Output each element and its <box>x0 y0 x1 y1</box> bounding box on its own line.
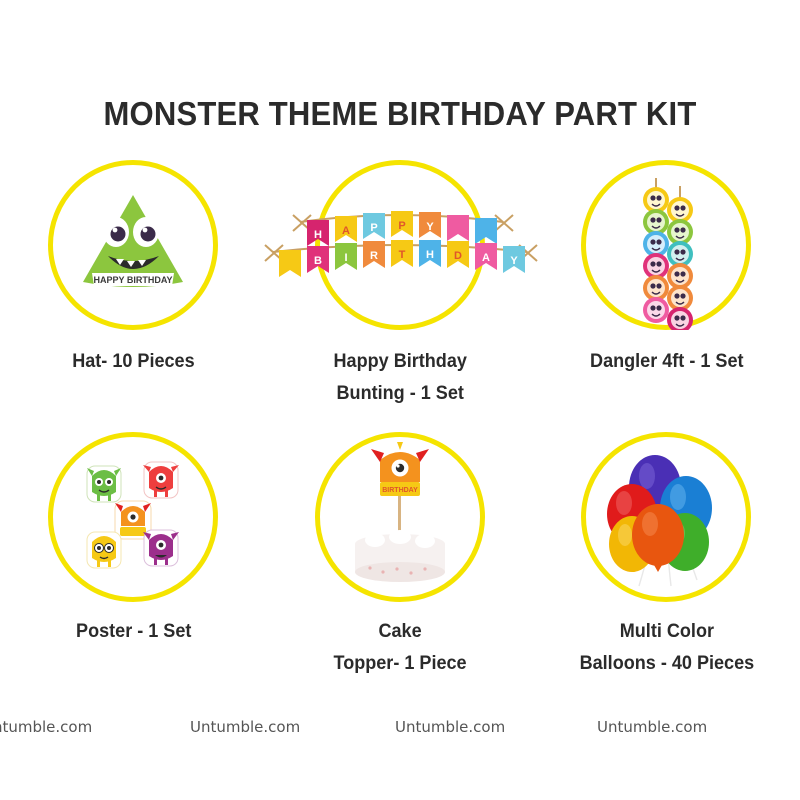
multi-color-balloons-icon <box>581 432 751 602</box>
product-row-1: HAPPY BIRTHDAY Hat- 10 Pieces H <box>0 160 800 410</box>
dangler-strand-left <box>643 187 669 323</box>
svg-text:Y: Y <box>510 255 518 267</box>
svg-text:H: H <box>314 229 322 241</box>
caption-line: Poster - 1 Set <box>76 616 191 648</box>
product-cell-balloons[interactable]: Multi Color Balloons - 40 Pieces <box>533 432 800 680</box>
product-cell-poster[interactable]: Poster - 1 Set <box>0 432 267 680</box>
product-image-cake-topper: BIRTHDAY <box>315 432 485 602</box>
product-cell-cake-topper[interactable]: BIRTHDAY <box>267 432 534 680</box>
product-caption-bunting: Happy Birthday Bunting - 1 Set <box>333 346 466 410</box>
product-cell-hat[interactable]: HAPPY BIRTHDAY Hat- 10 Pieces <box>0 160 267 410</box>
monster-party-hat-icon: HAPPY BIRTHDAY <box>48 160 218 330</box>
caption-line: Topper- 1 Piece <box>333 648 466 680</box>
product-caption-balloons: Multi Color Balloons - 40 Pieces <box>579 616 754 680</box>
svg-text:HAPPY BIRTHDAY: HAPPY BIRTHDAY <box>94 275 173 285</box>
svg-text:P: P <box>398 220 405 232</box>
product-caption-hat: Hat- 10 Pieces <box>72 346 194 378</box>
caption-line: Cake <box>333 616 466 648</box>
svg-text:I: I <box>344 252 347 264</box>
monster-dangler-icon <box>581 160 751 330</box>
caption-line: Happy Birthday <box>333 346 466 378</box>
product-caption-poster: Poster - 1 Set <box>76 616 191 648</box>
product-row-2: Poster - 1 Set <box>0 432 800 680</box>
svg-text:P: P <box>370 222 377 234</box>
svg-text:R: R <box>370 250 378 262</box>
watermark: Untumble.com <box>190 718 300 736</box>
dangler-strand-right <box>667 197 693 330</box>
caption-line: Dangler 4ft - 1 Set <box>590 346 743 378</box>
product-image-bunting: H A P P Y B <box>315 160 485 330</box>
product-caption-cake-topper: Cake Topper- 1 Piece <box>333 616 466 680</box>
caption-line: Hat- 10 Pieces <box>72 346 194 378</box>
page-title: MONSTER THEME BIRTHDAY PART KIT <box>24 95 776 133</box>
svg-text:Y: Y <box>426 221 434 233</box>
bunting-bottom-flags: B I R T H D A Y <box>279 240 525 277</box>
watermark-row: Untumble.com Untumble.com Untumble.com U… <box>0 718 800 748</box>
svg-text:T: T <box>399 249 406 261</box>
monster-poster-icon <box>48 432 218 602</box>
svg-text:B: B <box>314 255 322 267</box>
svg-text:A: A <box>342 225 350 237</box>
product-cell-dangler[interactable]: Dangler 4ft - 1 Set <box>533 160 800 410</box>
product-caption-dangler: Dangler 4ft - 1 Set <box>590 346 743 378</box>
caption-line: Bunting - 1 Set <box>333 378 466 410</box>
happy-birthday-bunting-icon: H A P P Y B <box>255 160 545 330</box>
watermark: Untumble.com <box>597 718 707 736</box>
svg-text:H: H <box>426 249 434 261</box>
svg-text:BIRTHDAY: BIRTHDAY <box>382 487 418 494</box>
svg-text:A: A <box>482 252 490 264</box>
product-grid: HAPPY BIRTHDAY Hat- 10 Pieces H <box>0 160 800 680</box>
product-image-dangler <box>581 160 751 330</box>
product-image-balloons <box>581 432 751 602</box>
watermark: Untumble.com <box>395 718 505 736</box>
product-cell-bunting[interactable]: H A P P Y B <box>267 160 534 410</box>
product-image-hat: HAPPY BIRTHDAY <box>48 160 218 330</box>
svg-text:D: D <box>454 250 462 262</box>
caption-line: Balloons - 40 Pieces <box>579 648 754 680</box>
monster-cake-topper-icon: BIRTHDAY <box>315 432 485 602</box>
caption-line: Multi Color <box>579 616 754 648</box>
watermark: Untumble.com <box>0 718 92 736</box>
product-image-poster <box>48 432 218 602</box>
